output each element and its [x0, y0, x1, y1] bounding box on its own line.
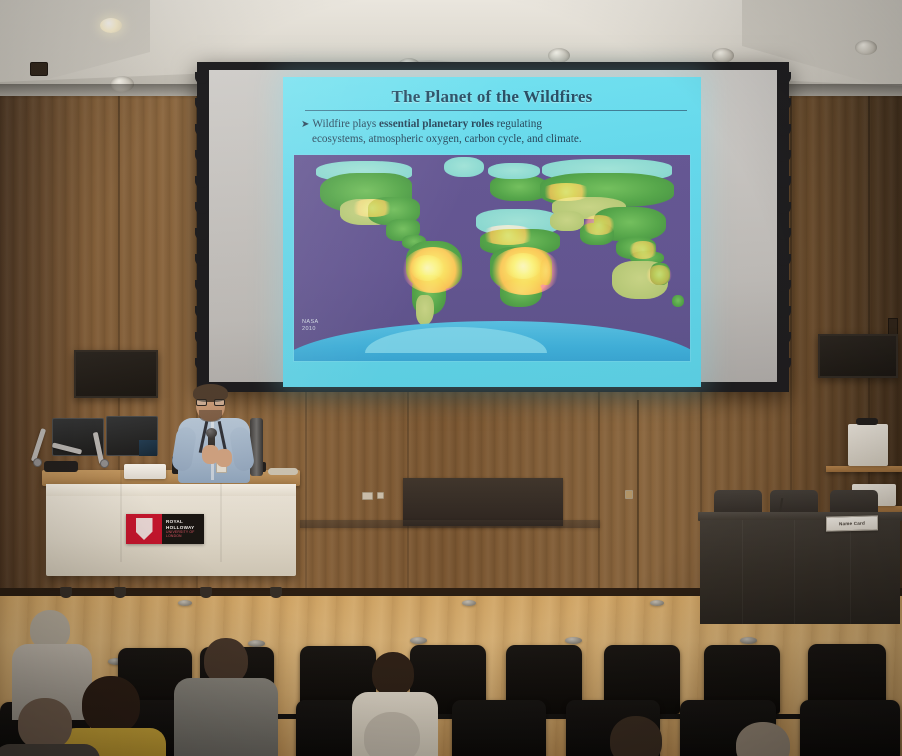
audience-seating	[0, 620, 902, 756]
map-land-greenland	[444, 157, 484, 177]
lectern-seam	[220, 470, 222, 562]
glasses-icon	[196, 399, 225, 406]
map-credit: NASA 2010	[302, 319, 319, 333]
royal-holloway-crest-icon	[126, 514, 162, 544]
floor-socket-icon	[178, 600, 192, 606]
shelf-upper	[826, 466, 902, 472]
wall-trim	[300, 520, 600, 528]
ceiling-speaker-icon	[548, 48, 570, 63]
panel-table-skirt	[700, 520, 900, 624]
audience-head	[364, 712, 420, 756]
lectern-caster	[270, 587, 282, 598]
slide-bullet-text: ➤Wildfire plays essential planetary role…	[301, 117, 691, 147]
audience-member	[590, 716, 682, 756]
map-fire-amazon-core	[410, 255, 444, 281]
map-fire-russia	[540, 183, 592, 201]
lectern[interactable]: ROYAL HOLLOWAY UNIVERSITY OF LONDON	[42, 470, 300, 590]
panel-nameplate: Name Card	[826, 515, 878, 531]
map-land-arabia	[550, 211, 584, 231]
door-edge	[637, 400, 639, 590]
screen-tension-hooks-right	[777, 68, 791, 386]
seat[interactable]	[800, 700, 900, 756]
wall-socket-icon	[362, 492, 373, 500]
panel-chair[interactable]	[830, 490, 878, 514]
audience-member	[344, 712, 440, 756]
lectern-seam	[120, 470, 122, 562]
ceiling-speaker-icon	[712, 48, 734, 63]
bullet-text-line2: ecosystems, atmospheric oxygen, carbon c…	[301, 132, 582, 147]
presenter-beard	[199, 410, 222, 422]
ceiling-light-icon	[100, 18, 122, 33]
lectern-caster	[114, 587, 126, 598]
desk-equipment	[44, 461, 78, 472]
shelf-equipment-handle	[856, 418, 878, 425]
screen-surface: The Planet of the Wildfires ➤Wildfire pl…	[209, 70, 777, 382]
floor-socket-icon	[462, 600, 476, 606]
global-fire-map-figure: NASA 2010	[294, 155, 690, 361]
shelf-equipment-box	[848, 424, 888, 466]
map-fire-africa-core	[504, 253, 542, 279]
presenter	[176, 387, 252, 483]
bullet-text-post: regulating	[494, 118, 542, 130]
map-fire-india	[582, 215, 616, 235]
skirt-fold	[742, 520, 743, 624]
map-fire-usa-west	[350, 199, 394, 217]
royal-holloway-logo: ROYAL HOLLOWAY UNIVERSITY OF LONDON	[126, 514, 204, 544]
wall-display-left	[74, 350, 158, 398]
bullet-arrow-icon: ➤	[301, 119, 309, 130]
logo-line-3: UNIVERSITY OF LONDON	[166, 530, 204, 539]
map-fire-indonesia	[628, 241, 658, 259]
audience-head	[372, 652, 414, 696]
screen-tension-hooks-left	[195, 68, 209, 386]
ceiling-speaker-icon	[855, 40, 877, 55]
map-fire-australia	[646, 265, 672, 285]
audience-head	[18, 698, 72, 750]
seat[interactable]	[452, 700, 546, 756]
microphone-joint	[33, 458, 42, 467]
projected-slide: The Planet of the Wildfires ➤Wildfire pl…	[283, 77, 701, 387]
audience-head	[736, 722, 790, 756]
skirt-fold	[794, 520, 795, 624]
panel-table: Name Card	[698, 512, 902, 634]
microphone-joint	[100, 459, 109, 468]
floor-socket-icon	[650, 600, 664, 606]
desk-white-unit	[124, 464, 166, 479]
map-fire-sahel	[480, 225, 536, 245]
microphone-head-icon	[206, 428, 217, 438]
slide-title-rule	[305, 110, 687, 111]
wall-display-right	[818, 334, 898, 378]
map-land-new-zealand	[672, 295, 684, 307]
bullet-text-bold: essential planetary roles	[379, 118, 494, 130]
map-land-scandinavia	[488, 163, 540, 179]
wall-socket-icon	[377, 492, 384, 499]
skirt-fold	[850, 520, 851, 624]
audience-body	[0, 744, 100, 756]
audience-member	[178, 638, 276, 756]
presenter-hand-right	[216, 449, 232, 467]
nameplate-text: Name Card	[839, 521, 865, 527]
projection-screen: The Planet of the Wildfires ➤Wildfire pl…	[197, 62, 789, 392]
map-credit-source: NASA	[302, 319, 319, 326]
map-credit-year: 2010	[302, 326, 319, 333]
lectern-caster	[200, 587, 212, 598]
wall-sensor-icon	[30, 62, 48, 76]
door-handle-icon	[625, 490, 633, 499]
monitor-screen-glow	[139, 440, 157, 456]
slide-title: The Planet of the Wildfires	[283, 87, 701, 107]
audience-member	[718, 722, 810, 756]
audience-body	[174, 678, 278, 756]
lecture-theatre-scene: The Planet of the Wildfires ➤Wildfire pl…	[0, 0, 902, 756]
crest-shield-icon	[136, 518, 153, 540]
map-land-patagonia	[416, 295, 434, 325]
panel-chair[interactable]	[714, 490, 762, 514]
bullet-text-pre: Wildfire plays	[312, 118, 379, 130]
royal-holloway-wordmark: ROYAL HOLLOWAY UNIVERSITY OF LONDON	[162, 514, 204, 544]
wall-acoustic-panel	[403, 478, 563, 526]
desk-item	[268, 468, 298, 475]
audience-head	[610, 716, 662, 756]
audience-member	[0, 698, 96, 756]
lectern-lip	[46, 484, 296, 496]
panel-chair[interactable]	[770, 490, 818, 514]
lectern-caster	[60, 587, 72, 598]
